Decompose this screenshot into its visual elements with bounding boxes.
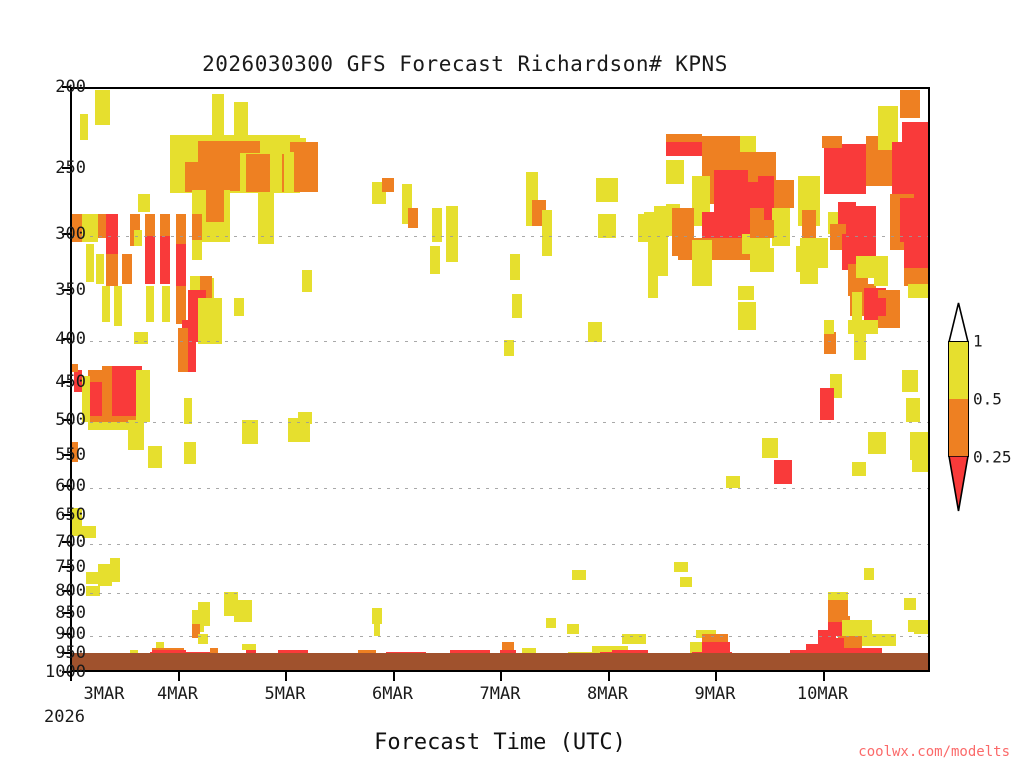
heatmap-cell xyxy=(596,178,618,202)
colorbar xyxy=(948,341,969,457)
heatmap-cell xyxy=(148,446,162,468)
heatmap-cell xyxy=(192,240,202,260)
y-axis-tick-label: 800 xyxy=(55,581,86,601)
plot-area xyxy=(70,87,930,672)
heatmap-cell xyxy=(242,420,258,444)
x-axis-tick-label: 5MAR xyxy=(265,684,306,704)
y-axis-tick-label: 200 xyxy=(55,77,86,97)
watermark: coolwx.com/modelts xyxy=(858,744,1010,760)
heatmap-cell xyxy=(892,142,930,198)
y-axis-tick-label: 1000 xyxy=(45,662,86,682)
x-axis-tick-label: 4MAR xyxy=(157,684,198,704)
heatmap-cell xyxy=(726,476,740,488)
heatmap-cell xyxy=(86,572,98,584)
heatmap-cell xyxy=(824,332,836,354)
heatmap-cell xyxy=(160,236,170,284)
heatmap-cell xyxy=(234,298,244,316)
y-axis-tick-label: 900 xyxy=(55,624,86,644)
heatmap-cell xyxy=(854,332,866,360)
heatmap-cell xyxy=(102,366,112,416)
heatmap-cell xyxy=(666,160,684,184)
heatmap-cell xyxy=(750,248,774,272)
heatmap-cell xyxy=(206,190,224,222)
heatmap-cell xyxy=(240,141,260,153)
heatmap-cell xyxy=(374,624,380,636)
terrain-band xyxy=(72,653,928,672)
gridline-horizontal xyxy=(72,593,928,594)
heatmap-cell xyxy=(302,270,312,292)
heatmap-cell xyxy=(824,320,834,334)
y-axis-tick-label: 550 xyxy=(55,445,86,465)
heatmap-cell xyxy=(762,438,778,458)
heatmap-cell xyxy=(146,286,154,322)
gridline-horizontal xyxy=(72,341,928,342)
heatmap-cell xyxy=(738,286,754,300)
heatmap-cell xyxy=(680,577,692,587)
y-axis-tick-label: 250 xyxy=(55,158,86,178)
heatmap-cell xyxy=(567,624,579,634)
y-axis-tick-label: 600 xyxy=(55,476,86,496)
x-axis-tick xyxy=(70,672,72,681)
x-axis-tick xyxy=(285,672,287,681)
colorbar-tick-025: 0.25 xyxy=(973,448,1012,467)
heatmap-cell xyxy=(102,286,110,322)
heatmap-cell xyxy=(678,238,750,260)
heatmap-cell xyxy=(852,292,862,320)
heatmap-cell xyxy=(96,254,104,284)
heatmap-cell xyxy=(588,322,602,342)
colorbar-segment xyxy=(949,399,968,456)
page-title: 2026030300 GFS Forecast Richardson# KPNS xyxy=(0,52,930,76)
heatmap-cell xyxy=(86,244,94,282)
heatmap-cell xyxy=(904,598,916,610)
y-axis-tick-label: 750 xyxy=(55,557,86,577)
x-axis-tick-label: 8MAR xyxy=(587,684,628,704)
y-axis-tick-label: 700 xyxy=(55,532,86,552)
colorbar-tick-1: 1 xyxy=(973,332,983,351)
gridline-horizontal xyxy=(72,488,928,489)
heatmap-cell xyxy=(188,154,196,162)
heatmap-cell xyxy=(200,614,210,626)
heatmap-cell xyxy=(234,600,252,622)
heatmap-cell xyxy=(902,370,918,392)
y-axis-tick-label: 450 xyxy=(55,372,86,392)
colorbar-tick-05: 0.5 xyxy=(973,390,1002,409)
chart-canvas: 2026030300 GFS Forecast Richardson# KPNS… xyxy=(0,0,1024,768)
x-axis-tick xyxy=(823,672,825,681)
colorbar-segment xyxy=(949,342,968,399)
heatmap-cell xyxy=(648,234,658,298)
heatmap-cell xyxy=(666,134,702,142)
heatmap-cell xyxy=(828,598,848,618)
heatmap-cell xyxy=(750,208,764,238)
x-axis-tick xyxy=(500,672,502,681)
heatmap-cell xyxy=(145,214,155,236)
heatmap-cell xyxy=(136,370,150,422)
heatmap-cell xyxy=(95,90,110,125)
heatmap-cell xyxy=(106,254,118,286)
x-axis-tick-label: 10MAR xyxy=(797,684,848,704)
heatmap-cell xyxy=(542,210,552,256)
heatmap-cell xyxy=(446,206,458,246)
x-axis-tick-label: 7MAR xyxy=(480,684,521,704)
heatmap-cell xyxy=(820,388,834,420)
y-axis-tick-label: 950 xyxy=(55,643,86,663)
heatmap-cell xyxy=(654,206,672,222)
heatmap-cell xyxy=(88,376,136,418)
heatmap-cell xyxy=(852,462,866,476)
heatmap-cell xyxy=(864,568,874,580)
y-axis-tick-label: 300 xyxy=(55,224,86,244)
heatmap-cell xyxy=(874,256,888,286)
y-axis-tick-label: 850 xyxy=(55,603,86,623)
heatmap-cell xyxy=(822,136,842,148)
heatmap-cells-layer xyxy=(72,89,928,670)
heatmap-cell xyxy=(128,420,144,450)
heatmap-cell xyxy=(270,144,282,192)
heatmap-cell xyxy=(110,558,120,582)
heatmap-cell xyxy=(796,246,812,272)
heatmap-cell xyxy=(824,144,866,194)
heatmap-cell xyxy=(430,246,440,274)
heatmap-cell xyxy=(162,286,170,322)
heatmap-cell xyxy=(446,242,458,262)
heatmap-cell xyxy=(372,608,382,624)
heatmap-cell xyxy=(774,180,794,208)
heatmap-cell xyxy=(185,162,199,192)
y-axis-tick-label: 400 xyxy=(55,329,86,349)
heatmap-cell xyxy=(774,460,792,484)
gridline-horizontal xyxy=(72,422,928,423)
heatmap-cell xyxy=(810,238,828,268)
heatmap-cell xyxy=(904,242,930,268)
heatmap-cell xyxy=(866,298,886,316)
heatmap-cell xyxy=(290,142,318,192)
heatmap-cell xyxy=(408,208,418,228)
heatmap-cell xyxy=(184,398,192,424)
heatmap-cell xyxy=(598,214,616,238)
x-axis-tick-label: 3MAR xyxy=(84,684,125,704)
heatmap-cell xyxy=(134,332,148,344)
y-axis-tick-label: 500 xyxy=(55,410,86,430)
heatmap-cell xyxy=(178,328,188,372)
heatmap-cell xyxy=(145,236,155,284)
heatmap-cell xyxy=(510,254,520,280)
heatmap-cell xyxy=(504,340,514,356)
heatmap-cell xyxy=(138,194,150,212)
heatmap-cell xyxy=(88,370,102,382)
heatmap-cell xyxy=(134,230,142,246)
y-axis-tick-label: 650 xyxy=(55,505,86,525)
heatmap-cell xyxy=(114,286,122,326)
heatmap-cell xyxy=(176,286,186,324)
heatmap-cell xyxy=(868,432,886,454)
x-axis-tick xyxy=(715,672,717,681)
gridline-horizontal xyxy=(72,236,928,237)
heatmap-cell xyxy=(98,214,106,238)
heatmap-cell xyxy=(906,398,920,422)
heatmap-cell xyxy=(908,620,918,632)
heatmap-cell xyxy=(106,214,118,254)
heatmap-cell xyxy=(912,450,930,472)
heatmap-cell xyxy=(176,214,186,244)
heatmap-cell xyxy=(160,214,170,236)
heatmap-cell xyxy=(80,114,88,140)
heatmap-cell xyxy=(176,244,186,286)
heatmap-cell xyxy=(674,562,688,572)
x-axis-tick-label: 6MAR xyxy=(372,684,413,704)
gridline-horizontal xyxy=(72,636,928,637)
x-axis-tick xyxy=(608,672,610,681)
heatmap-cell xyxy=(502,642,514,650)
heatmap-cell xyxy=(382,178,394,192)
heatmap-cell xyxy=(908,284,930,298)
heatmap-cell xyxy=(900,90,920,118)
colorbar-under-arrow xyxy=(948,456,969,512)
heatmap-cell xyxy=(284,152,294,192)
x-axis-tick xyxy=(178,672,180,681)
heatmap-cell xyxy=(772,208,790,246)
gridline-horizontal xyxy=(72,544,928,545)
x-axis-year-label: 2026 xyxy=(44,707,85,727)
x-axis-tick xyxy=(393,672,395,681)
y-axis-tick-label: 350 xyxy=(55,280,86,300)
heatmap-cell xyxy=(846,206,876,256)
heatmap-cell xyxy=(546,618,556,628)
heatmap-cell xyxy=(738,302,756,330)
heatmap-cell xyxy=(692,240,712,286)
heatmap-cell xyxy=(198,298,222,344)
x-axis-tick-label: 9MAR xyxy=(695,684,736,704)
heatmap-cell xyxy=(512,294,522,318)
x-axis-title: Forecast Time (UTC) xyxy=(0,730,1000,755)
heatmap-cell xyxy=(572,570,586,580)
colorbar-over-arrow xyxy=(948,302,969,342)
heatmap-cell xyxy=(198,141,240,191)
heatmap-cell xyxy=(122,254,132,284)
heatmap-cell xyxy=(184,442,196,464)
heatmap-cell xyxy=(86,586,100,596)
